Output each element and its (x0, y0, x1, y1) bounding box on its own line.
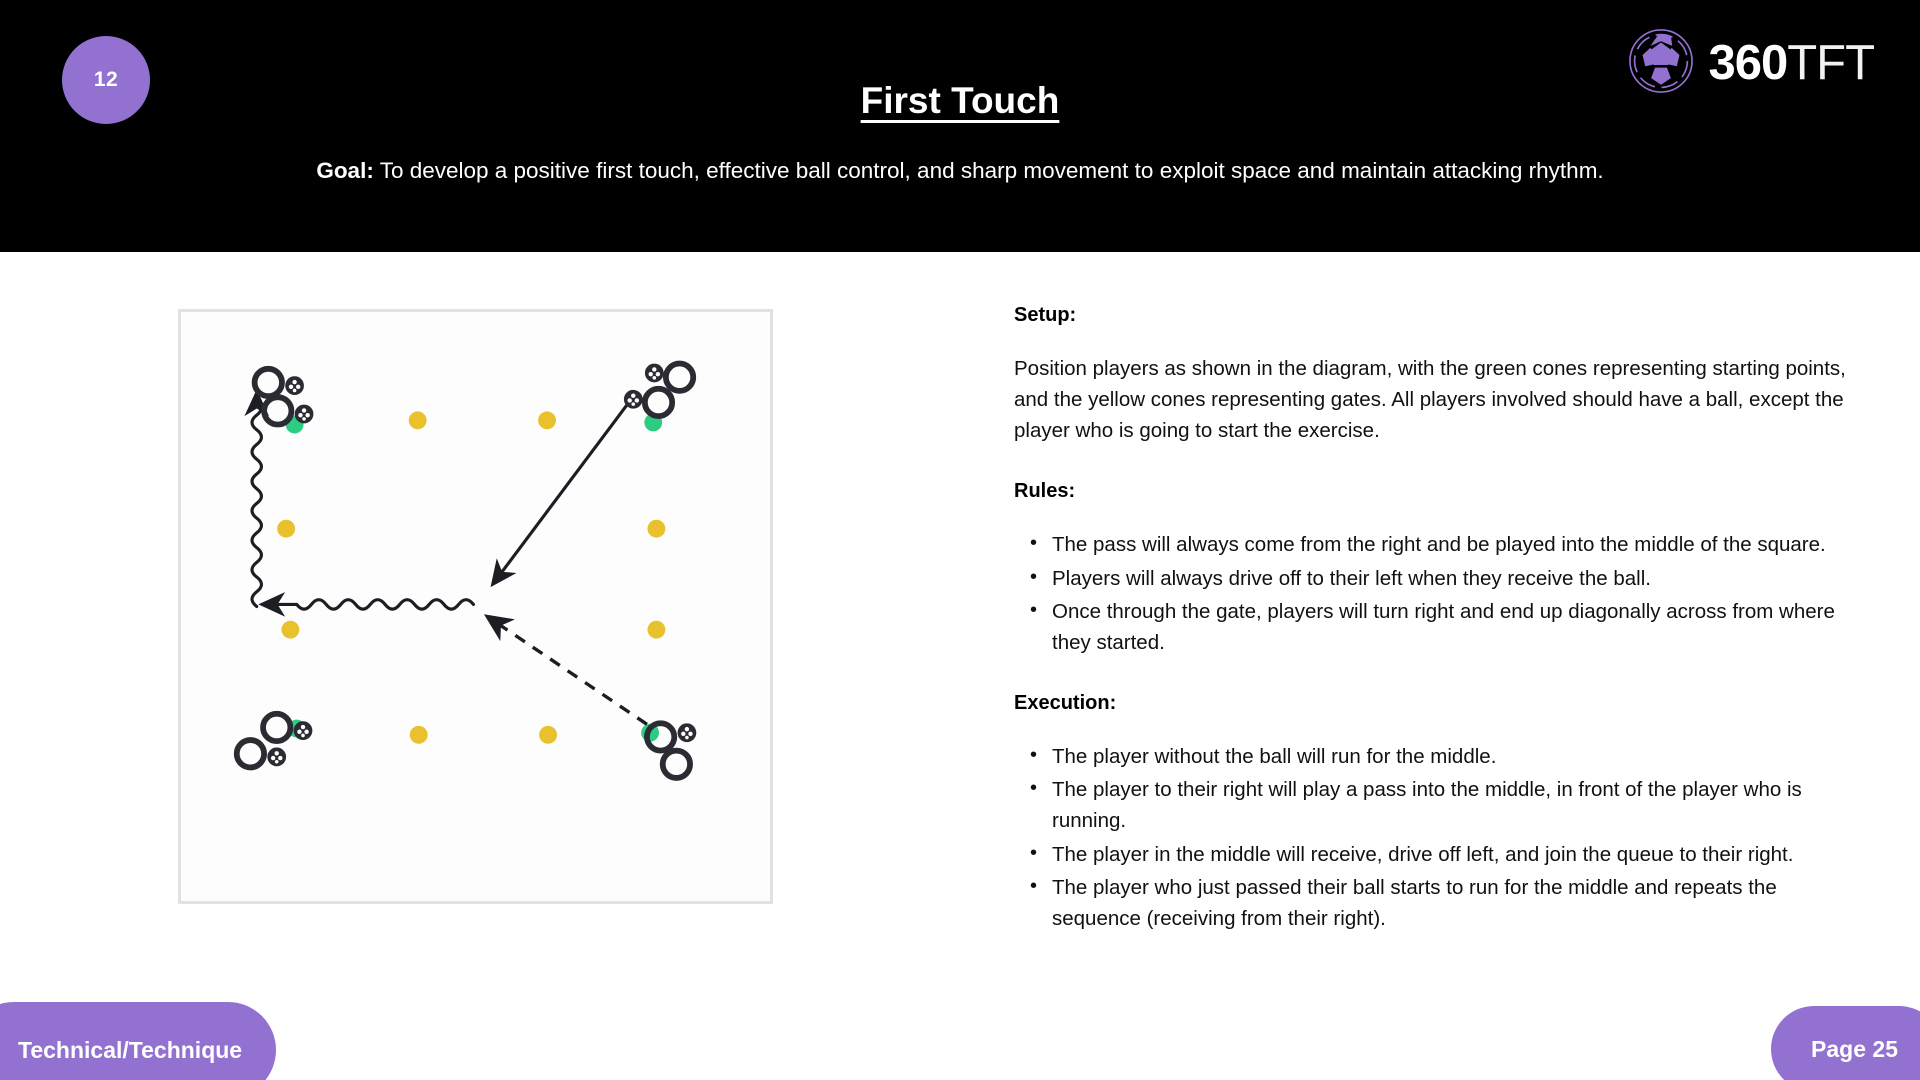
execution-list: The player without the ball will run for… (1014, 741, 1854, 934)
goal-statement: Goal: To develop a positive first touch,… (0, 158, 1920, 184)
list-item: The player to their right will play a pa… (1014, 774, 1854, 836)
dribble-arrow-vertical (252, 394, 261, 606)
execution-section: Execution: The player without the ball w… (1014, 692, 1854, 934)
brand-logo-360: 360 (1708, 36, 1787, 90)
rules-heading: Rules: (1014, 480, 1854, 503)
page-title-label: First Touch (861, 80, 1060, 121)
pass-arrow (493, 399, 631, 583)
list-item: The player who just passed their ball st… (1014, 872, 1854, 934)
drill-diagram (178, 309, 773, 904)
rules-section: Rules: The pass will always come from th… (1014, 480, 1854, 658)
slide-body: Setup: Position players as shown in the … (0, 252, 1920, 1080)
list-item: The player without the ball will run for… (1014, 741, 1854, 772)
soccer-ball-icon (1628, 28, 1694, 99)
execution-heading: Execution: (1014, 692, 1854, 715)
player-group-top-left (255, 369, 313, 425)
category-badge-label: Technical/Technique (18, 1037, 242, 1064)
list-item: Once through the gate, players will turn… (1014, 596, 1854, 658)
setup-section: Setup: Position players as shown in the … (1014, 304, 1854, 446)
instructions-panel: Setup: Position players as shown in the … (1014, 304, 1854, 968)
category-badge: Technical/Technique (0, 1002, 276, 1080)
slide-page: 12 First Touch Goal: To develop a positi… (0, 0, 1920, 1080)
rules-list: The pass will always come from the right… (1014, 529, 1854, 658)
setup-heading: Setup: (1014, 304, 1854, 327)
brand-logo-text: 360TFT (1708, 39, 1874, 88)
list-item: The pass will always come from the right… (1014, 529, 1854, 560)
player-group-bottom-left (237, 714, 312, 768)
page-badge-label: Page 25 (1811, 1036, 1898, 1063)
brand-logo: 360TFT (1628, 28, 1874, 99)
goal-text: To develop a positive first touch, effec… (380, 158, 1604, 183)
goal-label: Goal: (316, 158, 374, 183)
yellow-cone-group (277, 411, 665, 743)
slide-header: 12 First Touch Goal: To develop a positi… (0, 0, 1920, 252)
list-item: Players will always drive off to their l… (1014, 563, 1854, 594)
list-item: The player in the middle will receive, d… (1014, 839, 1854, 870)
green-cone-group (286, 413, 663, 741)
brand-logo-tft: TFT (1787, 36, 1874, 90)
run-arrow (488, 617, 647, 724)
player-group-top-right (624, 364, 693, 417)
setup-paragraph: Position players as shown in the diagram… (1014, 353, 1854, 446)
dribble-arrow-horizontal (263, 600, 473, 609)
page-badge: Page 25 (1771, 1006, 1920, 1080)
